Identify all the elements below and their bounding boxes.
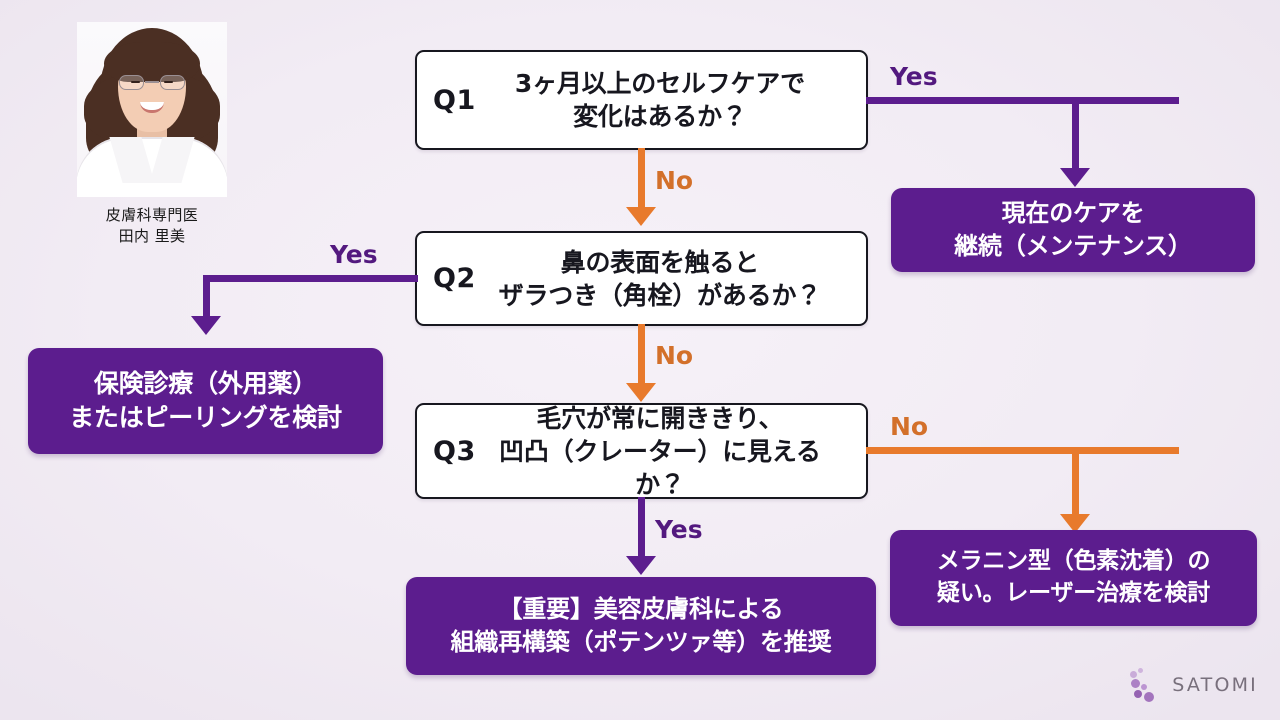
edge-label-q2-no: No — [655, 341, 693, 370]
result-insurance-line2: またはピーリングを検討 — [69, 401, 342, 436]
edge-q3-yes-vertical — [638, 497, 645, 559]
q1-line2: 変化はあるか？ — [476, 100, 844, 133]
q2-text: 鼻の表面を触ると ザラつき（角栓）があるか？ — [476, 246, 866, 312]
edge-q2-yes-horizontal — [203, 275, 418, 282]
edge-q2-no-vertical — [638, 324, 645, 386]
edge-q3-yes-arrowhead — [626, 556, 656, 575]
dots-logo-icon — [1129, 668, 1163, 702]
result-box-insurance[interactable]: 保険診療（外用薬） またはピーリングを検討 — [28, 348, 383, 454]
edge-q1-no-vertical — [638, 148, 645, 210]
q3-tag: Q3 — [417, 436, 476, 467]
brand-name: SATOMI — [1172, 674, 1258, 696]
edge-q3-no-vertical — [1072, 447, 1079, 517]
result-box-melanin[interactable]: メラニン型（色素沈着）の 疑い。レーザー治療を検討 — [890, 530, 1257, 626]
edge-q1-no-arrowhead — [626, 207, 656, 226]
q3-text: 毛穴が常に開ききり、 凹凸（クレーター）に見えるか？ — [476, 402, 866, 501]
edge-q2-no-arrowhead — [626, 383, 656, 402]
q1-tag: Q1 — [417, 85, 476, 116]
q3-line2: 凹凸（クレーター）に見えるか？ — [476, 435, 844, 501]
result-maintain-text: 現在のケアを 継続（メンテナンス） — [954, 197, 1192, 263]
glasses-icon — [119, 75, 185, 90]
q2-tag: Q2 — [417, 263, 476, 294]
q2-line2: ザラつき（角栓）があるか？ — [476, 279, 844, 312]
doctor-profile: 皮膚科専門医 田内 里美 — [52, 22, 252, 248]
q2-line1: 鼻の表面を触ると — [476, 246, 844, 279]
lab-coat-shape — [77, 137, 227, 197]
question-box-q3[interactable]: Q3 毛穴が常に開ききり、 凹凸（クレーター）に見えるか？ — [415, 403, 868, 499]
result-melanin-line1: メラニン型（色素沈着）の — [937, 546, 1211, 578]
edge-q2-yes-arrowhead — [191, 316, 221, 335]
result-box-maintain[interactable]: 現在のケアを 継続（メンテナンス） — [891, 188, 1255, 272]
doctor-title: 皮膚科専門医 — [52, 205, 252, 226]
result-insurance-line1: 保険診療（外用薬） — [69, 367, 342, 402]
edge-label-q2-yes: Yes — [330, 240, 378, 269]
result-melanin-line2: 疑い。レーザー治療を検討 — [937, 578, 1211, 610]
result-maintain-line2: 継続（メンテナンス） — [954, 230, 1192, 263]
result-insurance-text: 保険診療（外用薬） またはピーリングを検討 — [69, 367, 342, 436]
result-maintain-line1: 現在のケアを — [954, 197, 1192, 230]
q1-text: 3ヶ月以上のセルフケアで 変化はあるか？ — [476, 67, 866, 133]
edge-q1-yes-horizontal — [866, 97, 1179, 104]
edge-label-q3-yes: Yes — [655, 515, 703, 544]
doctor-photo — [77, 22, 227, 197]
q1-line1: 3ヶ月以上のセルフケアで — [476, 67, 844, 100]
edge-q1-yes-arrowhead — [1060, 168, 1090, 187]
edge-label-q1-no: No — [655, 166, 693, 195]
result-melanin-text: メラニン型（色素沈着）の 疑い。レーザー治療を検討 — [937, 546, 1211, 609]
edge-q2-yes-vertical — [203, 275, 210, 319]
doctor-name: 田内 里美 — [52, 226, 252, 247]
edge-label-q3-no: No — [890, 412, 928, 441]
result-important-text: 【重要】美容皮膚科による 組織再構築（ポテンツァ等）を推奨 — [451, 593, 832, 659]
flowchart-canvas: 皮膚科専門医 田内 里美 Q1 3ヶ月以上のセルフケアで 変化はあるか？ Yes… — [0, 0, 1280, 720]
result-box-important[interactable]: 【重要】美容皮膚科による 組織再構築（ポテンツァ等）を推奨 — [406, 577, 876, 675]
edge-q3-no-horizontal — [866, 447, 1179, 454]
brand-logo: SATOMI — [1129, 668, 1258, 702]
edge-q1-yes-vertical — [1072, 97, 1079, 171]
question-box-q2[interactable]: Q2 鼻の表面を触ると ザラつき（角栓）があるか？ — [415, 231, 868, 326]
q3-line1: 毛穴が常に開ききり、 — [476, 402, 844, 435]
result-important-line2: 組織再構築（ポテンツァ等）を推奨 — [451, 626, 832, 659]
result-important-line1: 【重要】美容皮膚科による — [451, 593, 832, 626]
edge-label-q1-yes: Yes — [890, 62, 938, 91]
doctor-caption: 皮膚科専門医 田内 里美 — [52, 205, 252, 248]
question-box-q1[interactable]: Q1 3ヶ月以上のセルフケアで 変化はあるか？ — [415, 50, 868, 150]
